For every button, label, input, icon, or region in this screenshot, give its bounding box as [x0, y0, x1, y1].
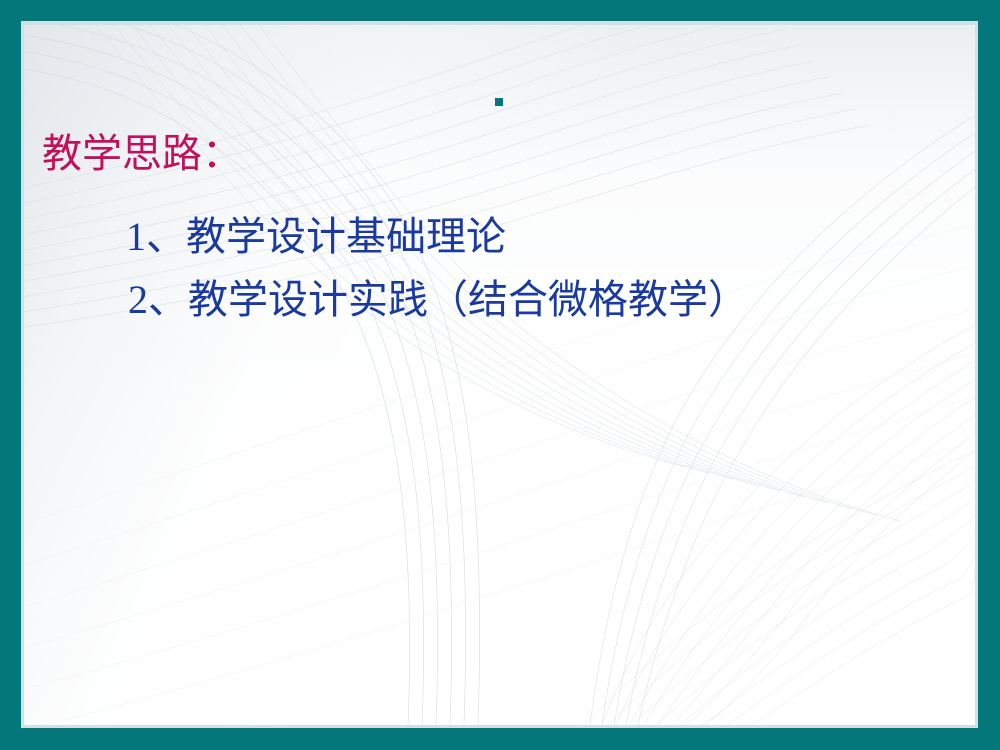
slide: 教学思路： 1、教学设计基础理论 2、教学设计实践（结合微格教学）	[0, 0, 1000, 750]
list-item-separator: 、	[146, 214, 186, 259]
list-item: 1、教学设计基础理论	[126, 214, 506, 260]
slide-content: 教学思路： 1、教学设计基础理论 2、教学设计实践（结合微格教学）	[24, 25, 975, 725]
list-item-marker: 1	[126, 214, 146, 259]
list-item-label: 教学设计基础理论	[186, 214, 506, 259]
list-item-marker: 2	[128, 277, 148, 322]
list-item-label: 教学设计实践（结合微格教学）	[188, 277, 748, 322]
page-title: 教学思路：	[42, 131, 242, 177]
square-bullet-icon	[495, 98, 503, 106]
list-item: 2、教学设计实践（结合微格教学）	[128, 277, 748, 323]
list-item-separator: 、	[148, 277, 188, 322]
slide-canvas: 教学思路： 1、教学设计基础理论 2、教学设计实践（结合微格教学）	[24, 25, 975, 725]
